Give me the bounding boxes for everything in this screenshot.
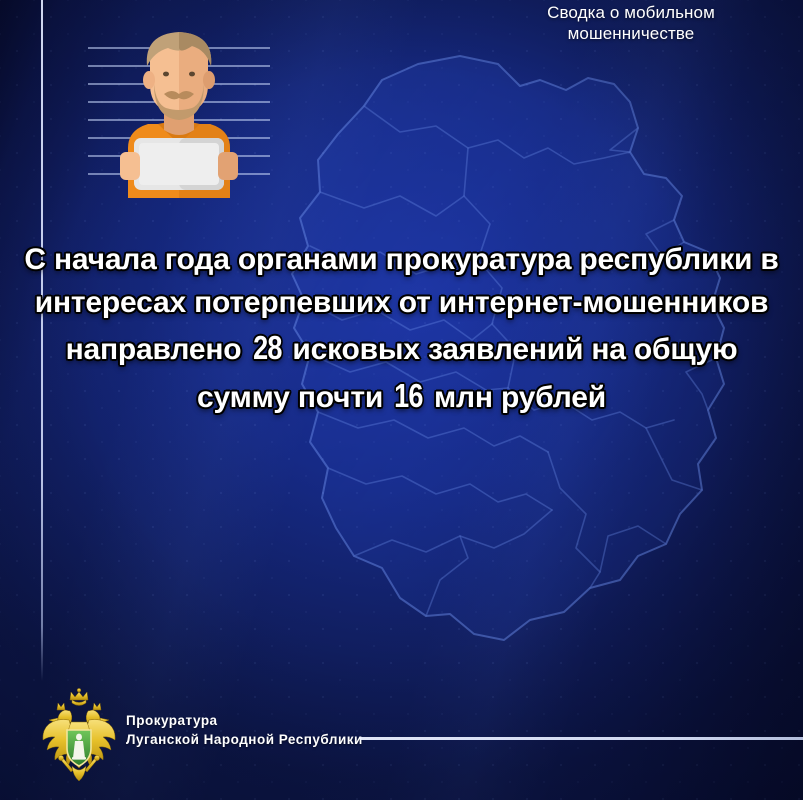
organization-line-1: Прокуратура xyxy=(126,711,363,730)
header-line-1: Сводка о мобильном xyxy=(481,2,781,23)
header-line-2: мошенничестве xyxy=(481,23,781,44)
footer-divider-line xyxy=(360,737,803,740)
main-statement: С начала года органами прокуратура респу… xyxy=(0,238,803,419)
stat-claims-count: 28 xyxy=(253,324,281,372)
header-caption: Сводка о мобильном мошенничестве xyxy=(481,2,781,45)
footer-bar: Прокуратура Луганской Народной Республик… xyxy=(0,680,803,800)
prosecutor-office-double-eagle-emblem xyxy=(39,688,119,784)
infographic-poster: Сводка о мобильном мошенничестве xyxy=(0,0,803,800)
stat-amount-millions: 16 xyxy=(394,372,422,420)
statement-part-3: млн рублей xyxy=(426,381,606,414)
organization-line-2: Луганской Народной Республики xyxy=(126,730,363,749)
mugshot-illustration xyxy=(84,26,274,198)
organization-name: Прокуратура Луганской Народной Республик… xyxy=(126,711,363,749)
